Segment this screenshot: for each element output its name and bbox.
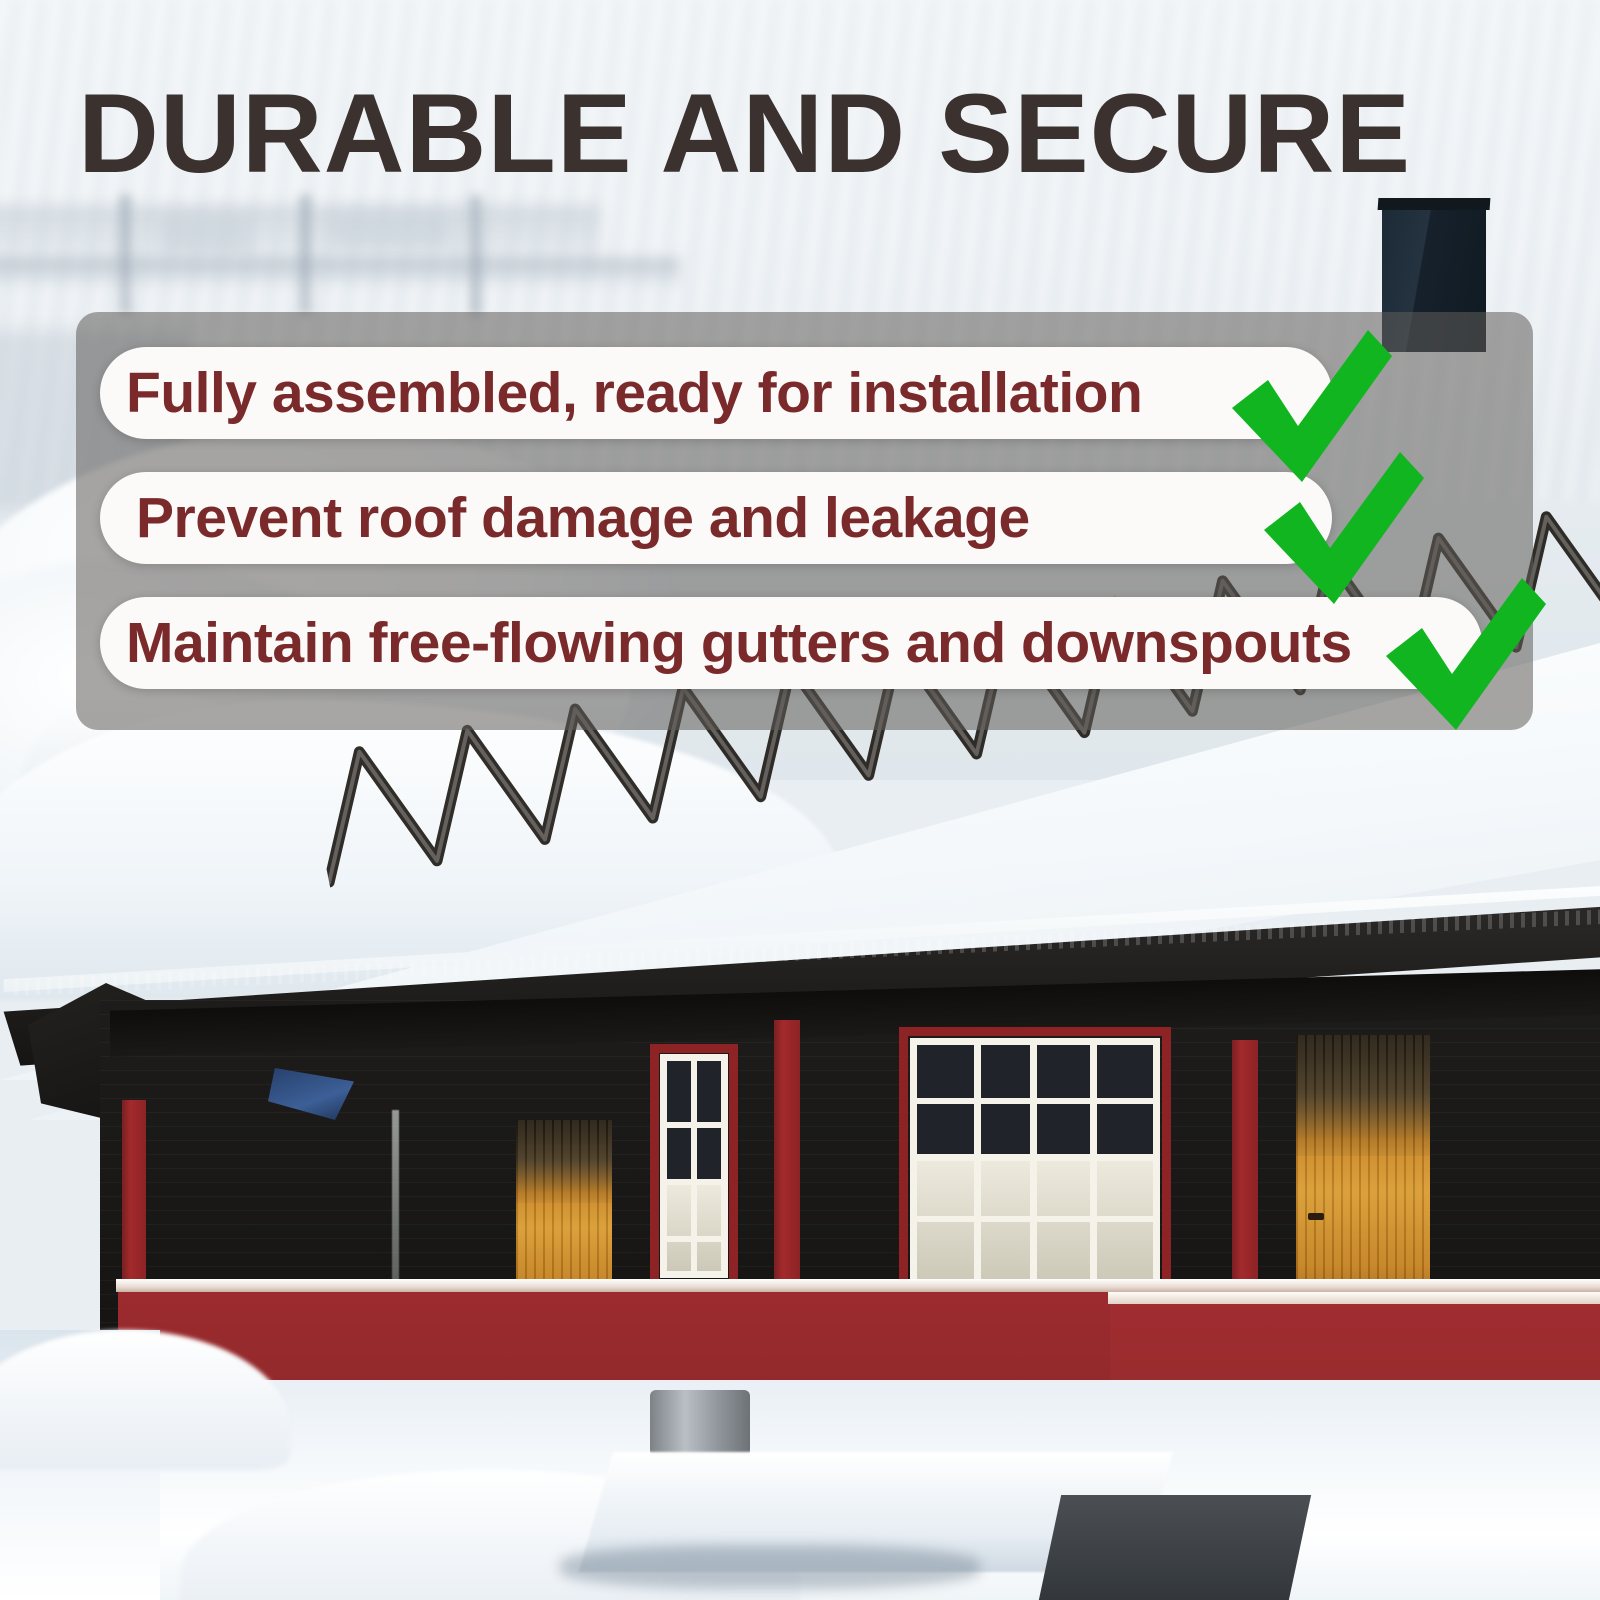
wooden-door (1296, 1035, 1430, 1297)
window-wide (910, 1038, 1160, 1288)
house-base-sill-right (1108, 1292, 1600, 1304)
blurred-post (120, 195, 131, 315)
porch-post (774, 1020, 800, 1295)
window-narrow (660, 1054, 728, 1278)
window-mullion (667, 1122, 721, 1128)
ground-shadow (560, 1545, 980, 1589)
porch-post (1232, 1040, 1258, 1295)
window-mullion (667, 1179, 721, 1185)
door-handle (1308, 1213, 1324, 1220)
blurred-railing-lower (0, 258, 680, 286)
feature-pill-1[interactable]: Fully assembled, ready for installation (100, 347, 1332, 439)
metal-bucket (650, 1390, 750, 1460)
window-mullion (1030, 1045, 1037, 1281)
feature-pill-2[interactable]: Prevent roof damage and leakage (100, 472, 1332, 564)
wooden-door (516, 1120, 612, 1300)
window-mullion (1090, 1045, 1097, 1281)
feature-label-2: Prevent roof damage and leakage (100, 485, 1030, 551)
window-mullion (917, 1098, 1153, 1104)
window-mullion (917, 1216, 1153, 1222)
dark-object-ground (1039, 1495, 1311, 1600)
chimney-cap (1378, 198, 1491, 210)
blurred-post (470, 195, 481, 315)
background-photo (0, 0, 1600, 1600)
house-base-sill (116, 1279, 1600, 1292)
door-wood-grain (516, 1120, 612, 1300)
door-wood-grain (1296, 1035, 1430, 1297)
blurred-structure (160, 215, 250, 255)
window-mullion (917, 1154, 1153, 1161)
window-mullion (974, 1045, 981, 1281)
feature-label-3: Maintain free-flowing gutters and downsp… (100, 610, 1352, 676)
page-title: DURABLE AND SECURE (78, 78, 1558, 190)
blurred-post (300, 195, 311, 315)
infographic-canvas: Fully assembled, ready for installation … (0, 0, 1600, 1600)
blurred-structure (330, 212, 450, 248)
window-mullion (667, 1236, 721, 1242)
feature-label-1: Fully assembled, ready for installation (100, 360, 1142, 426)
